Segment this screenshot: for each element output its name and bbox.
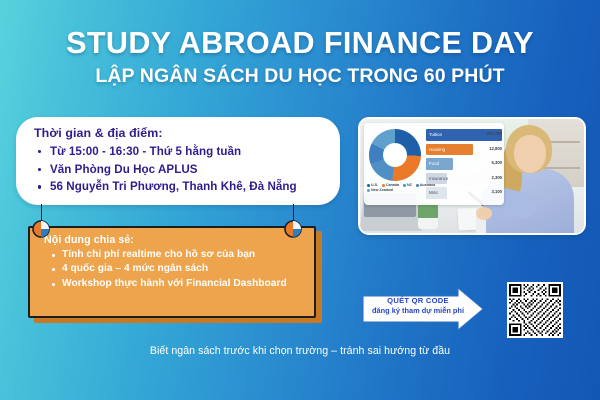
bar-row: Misc 3,100	[426, 186, 502, 201]
budget-dashboard-overlay: A+ APLUS U.S. Canada NZ Australia New Ze…	[364, 123, 504, 205]
bar-value: 3,100	[492, 189, 502, 194]
bar-row: Food 5,300	[426, 157, 502, 172]
bar-label: Housing	[426, 147, 445, 152]
aplus-logo: A+ APLUS	[387, 149, 403, 161]
qr-callout-arrow: QUÉT QR CODE đăng ký tham dự miễn phí	[362, 287, 484, 331]
content-heading: Nội dung chia sẻ:	[44, 234, 298, 246]
list-item: 56 Nguyễn Tri Phương, Thanh Khê, Đà Nẵng	[34, 178, 326, 196]
qr-callout-line1: QUÉT QR CODE	[370, 296, 466, 306]
list-item: Workshop thực hành với Financial Dashboa…	[44, 277, 298, 291]
legend-label: U.S.	[371, 183, 378, 187]
qr-callout-text: QUÉT QR CODE đăng ký tham dự miễn phí	[370, 296, 466, 316]
schedule-info-card: Thời gian & địa điểm: Từ 15:00 - 16:30 -…	[16, 117, 340, 205]
bar-row: Tuition $27,750	[426, 128, 502, 143]
student-at-desk-photo: A+ APLUS U.S. Canada NZ Australia New Ze…	[358, 117, 586, 235]
bar-row: Insurance 2,300	[426, 172, 502, 187]
bar-value: 5,300	[492, 160, 502, 165]
content-list: Tính chi phí realtime cho hồ sơ của bạn …	[44, 248, 298, 291]
bar-row: Housing 12,800	[426, 143, 502, 158]
country-pie-chart: A+ APLUS	[369, 129, 421, 181]
qr-callout-line2: đăng ký tham dự miễn phí	[370, 306, 466, 316]
legend-label: Canada	[386, 183, 399, 187]
bar-label: Misc	[426, 190, 438, 195]
poster-canvas: STUDY ABROAD FINANCE DAY LẬP NGÂN SÁCH D…	[0, 0, 600, 400]
list-item: Văn Phòng Du Học APLUS	[34, 161, 326, 179]
bar-value: 2,300	[492, 175, 502, 180]
list-item: 4 quốc gia – 4 mức ngân sách	[44, 262, 298, 276]
donut-center-label: APLUS	[387, 155, 403, 159]
legend-label: NZ	[407, 183, 412, 187]
bar-label: Tuition	[426, 132, 442, 137]
bar-value: $27,750	[487, 131, 502, 136]
expense-bar-chart: Tuition $27,750 Housing 12,800 Food 5,30…	[426, 128, 502, 201]
legend-label: New Zealand	[371, 188, 393, 192]
qr-code-icon[interactable]	[507, 282, 563, 338]
bar-label: Food	[426, 161, 439, 166]
list-item: Từ 15:00 - 16:30 - Thứ 5 hằng tuần	[34, 143, 326, 161]
page-subtitle: LẬP NGÂN SÁCH DU HỌC TRONG 60 PHÚT	[0, 66, 600, 86]
bar-value: 12,800	[489, 146, 502, 151]
poster-headings: STUDY ABROAD FINANCE DAY LẬP NGÂN SÁCH D…	[0, 28, 600, 87]
list-item: Tính chi phí realtime cho hồ sơ của bạn	[44, 248, 298, 262]
page-title: STUDY ABROAD FINANCE DAY	[0, 28, 600, 59]
schedule-list: Từ 15:00 - 16:30 - Thứ 5 hằng tuần Văn P…	[34, 143, 326, 196]
content-topics-card: Nội dung chia sẻ: Tính chi phí realtime …	[28, 226, 316, 318]
bar-label: Insurance	[426, 176, 448, 181]
schedule-heading: Thời gian & địa điểm:	[34, 126, 326, 140]
footer-note: Biết ngân sách trước khi chọn trường – t…	[0, 345, 600, 357]
